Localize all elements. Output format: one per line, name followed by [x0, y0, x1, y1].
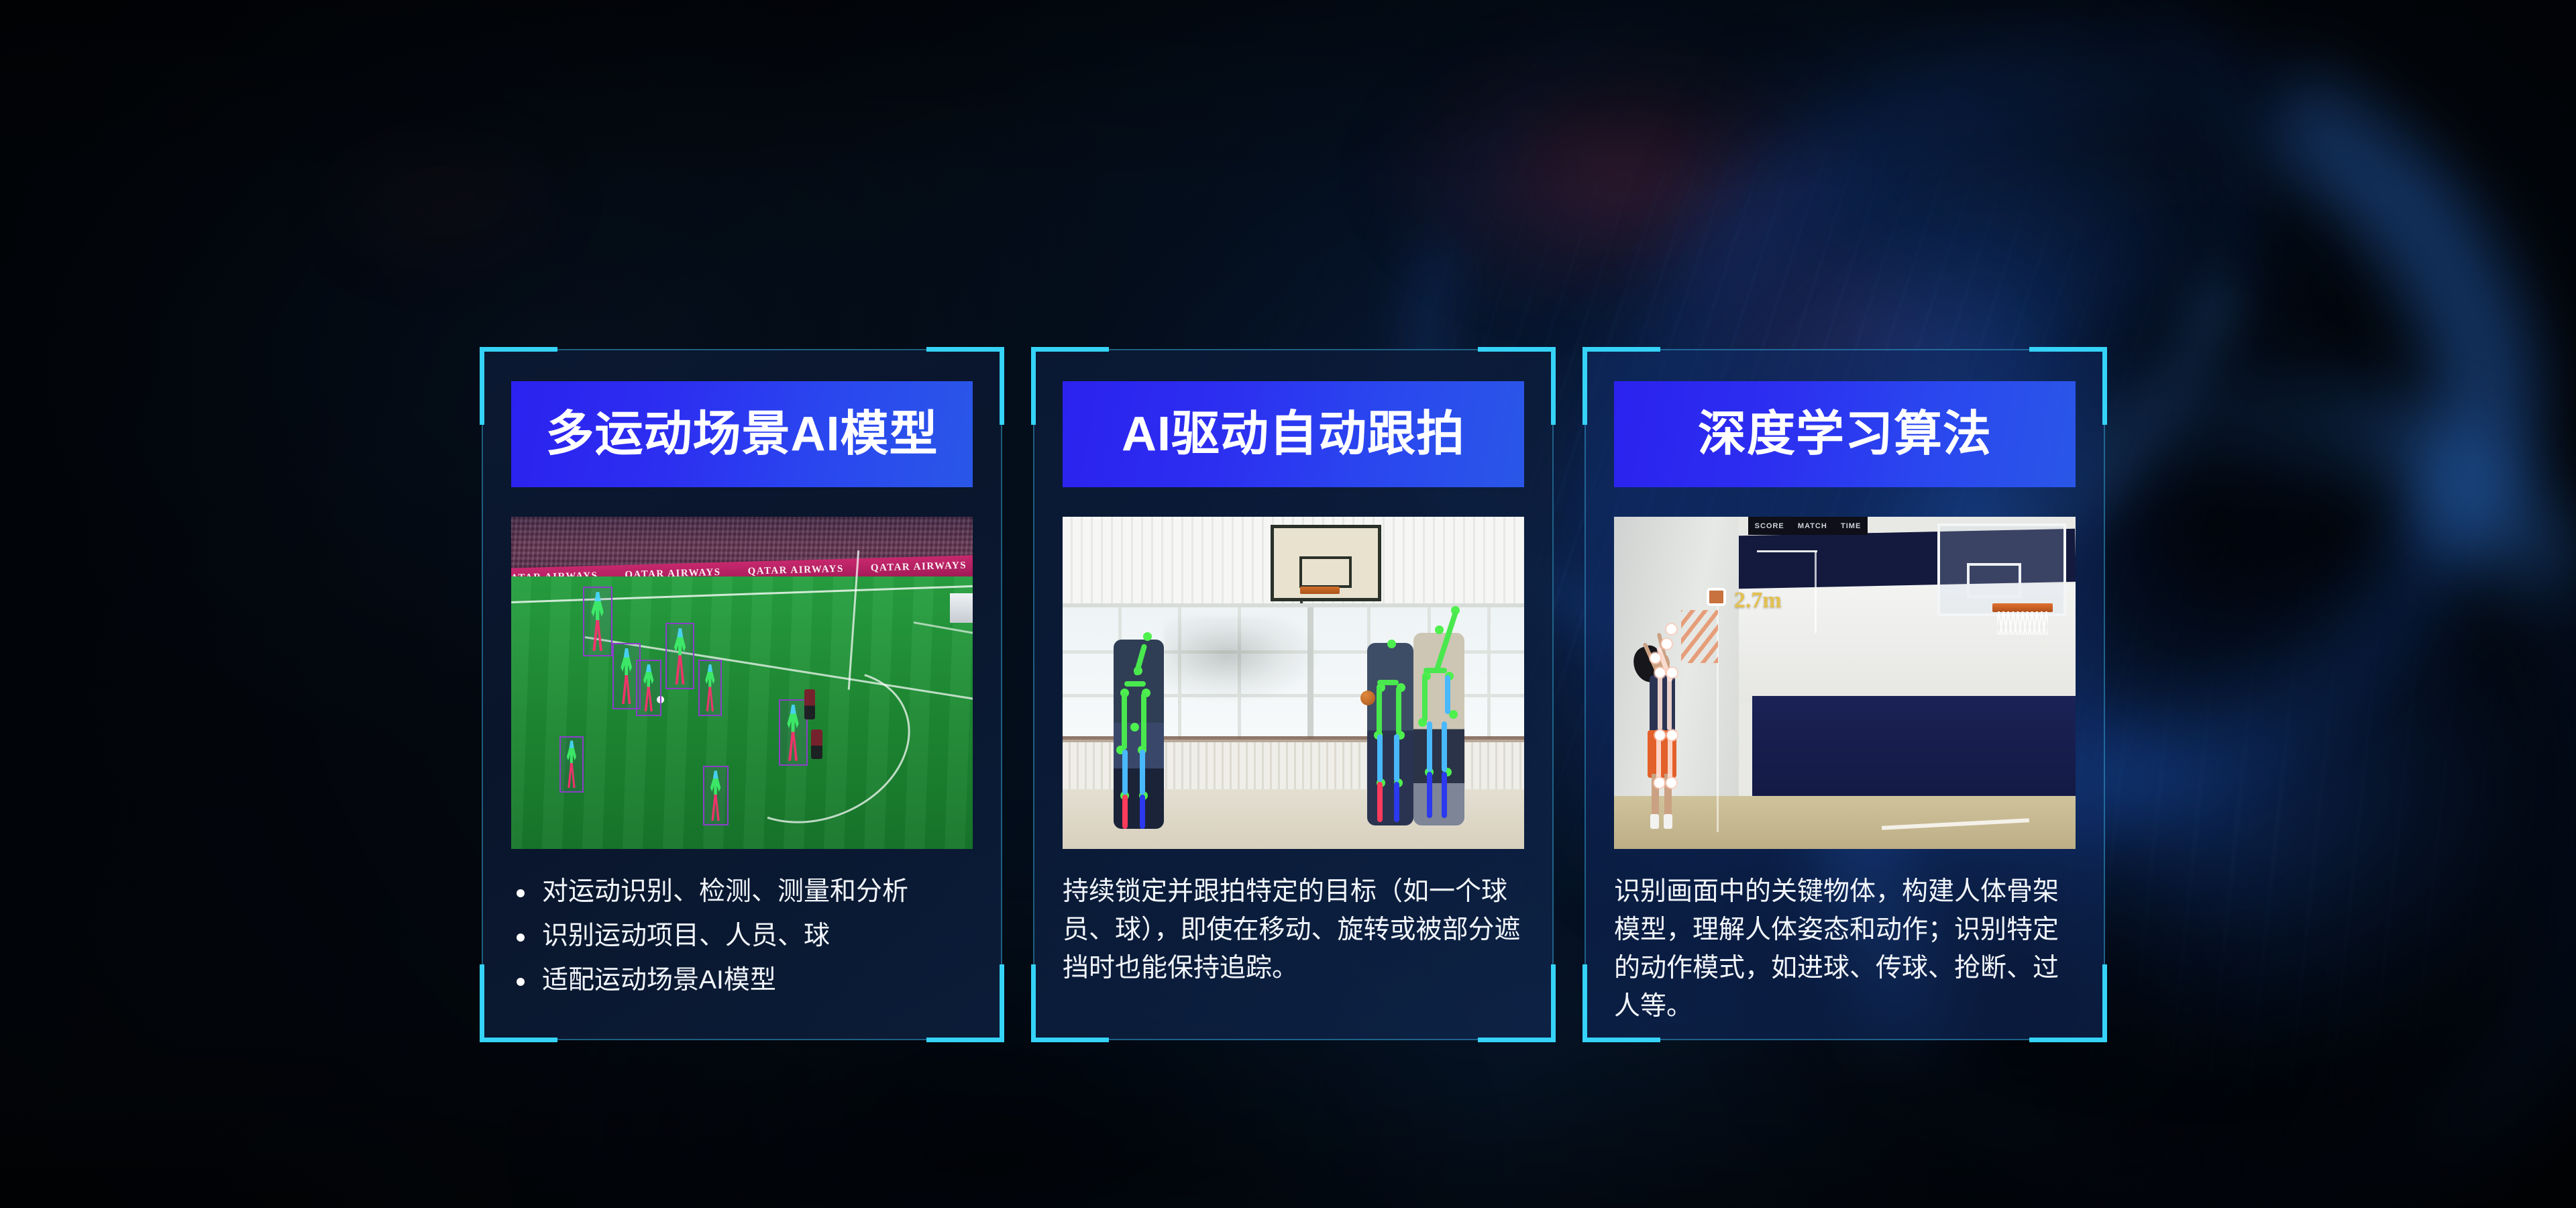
card-title: 多运动场景AI模型 — [545, 410, 938, 458]
list-item: 对运动识别、检测、测量和分析 — [511, 873, 973, 911]
pose-skeleton-overlay — [1367, 643, 1413, 825]
feature-card-ai-auto-tracking[interactable]: AI驱动自动跟拍 — [1033, 349, 1554, 1040]
tracked-player — [1114, 640, 1165, 829]
pose-skeleton-overlay — [1413, 633, 1464, 825]
feature-card-multi-sport-ai-model[interactable]: 多运动场景AI模型 QATAR AIRWAYS QATAR AIRWAYS QA… — [482, 349, 1002, 1040]
card-header-banner: 深度学习算法 — [1614, 381, 2076, 487]
card-paragraph: 持续锁定并跟拍特定的目标（如一个球员、球），即使在移动、旋转或被部分遮挡时也能保… — [1063, 873, 1524, 988]
card-header-banner: AI驱动自动跟拍 — [1063, 381, 1524, 487]
basketball-backboard — [1937, 523, 2067, 617]
tracked-ball-box — [1707, 588, 1727, 606]
feature-card-deep-learning-algorithm[interactable]: 深度学习算法 SCORE MATCH TIME — [1585, 349, 2105, 1040]
feature-bullet-list: 对运动识别、检测、测量和分析 识别运动项目、人员、球 适配运动场景AI模型 — [511, 873, 973, 1000]
detection-box — [698, 660, 722, 716]
court-wall-padding — [1752, 696, 2076, 796]
tracked-player — [1367, 643, 1413, 825]
detection-box — [779, 699, 808, 766]
card-title: 深度学习算法 — [1698, 410, 1992, 458]
untracked-player — [811, 729, 822, 760]
pose-skeleton-overlay — [1114, 640, 1165, 829]
sponsor-banner-text: QATAR AIRWAYS — [871, 560, 967, 574]
scoreboard-label: MATCH — [1798, 522, 1827, 530]
scoreboard: SCORE MATCH TIME — [1748, 517, 1868, 535]
card-body: 持续锁定并跟拍特定的目标（如一个球员、球），即使在移动、旋转或被部分遮挡时也能保… — [1063, 873, 1524, 988]
measurement-guide-line — [1815, 550, 1817, 634]
sideboard — [950, 593, 973, 623]
untracked-player — [804, 689, 816, 719]
basketball-net — [1997, 611, 2048, 635]
list-item: 适配运动场景AI模型 — [511, 962, 973, 1000]
detection-box — [636, 660, 662, 716]
measurement-guide-line — [1757, 550, 1817, 552]
tracked-player — [1644, 650, 1690, 832]
card-body: 对运动识别、检测、测量和分析 识别运动项目、人员、球 适配运动场景AI模型 — [511, 873, 973, 1006]
card-header-banner: 多运动场景AI模型 — [511, 381, 973, 487]
list-item: 识别运动项目、人员、球 — [511, 917, 973, 956]
card-media-soccer-detection: QATAR AIRWAYS QATAR AIRWAYS QATAR AIRWAY… — [511, 517, 973, 849]
basketball-rim — [1992, 603, 2052, 612]
card-media-shot-measurement: SCORE MATCH TIME 2.7m — [1614, 517, 2076, 849]
tracked-player — [1413, 633, 1464, 825]
card-paragraph: 识别画面中的关键物体，构建人体骨架模型，理解人体姿态和动作；识别特定的动作模式，… — [1614, 873, 2076, 1026]
detection-box — [559, 736, 584, 793]
card-media-basketball-pose — [1063, 517, 1524, 849]
detection-box — [665, 623, 694, 689]
card-title: AI驱动自动跟拍 — [1122, 410, 1465, 458]
detection-box — [583, 587, 613, 656]
card-body: 识别画面中的关键物体，构建人体骨架模型，理解人体姿态和动作；识别特定的动作模式，… — [1614, 873, 2076, 1026]
basketball-rim — [1300, 587, 1339, 594]
detection-box — [703, 766, 729, 825]
window-tree-silhouette — [1164, 617, 1321, 703]
feature-card-row: 多运动场景AI模型 QATAR AIRWAYS QATAR AIRWAYS QA… — [482, 349, 2105, 1040]
sponsor-banner-text: QATAR AIRWAYS — [748, 564, 845, 578]
distance-label: 2.7m — [1734, 588, 1782, 613]
scoreboard-label: SCORE — [1755, 522, 1784, 530]
scoreboard-label: TIME — [1841, 522, 1861, 530]
